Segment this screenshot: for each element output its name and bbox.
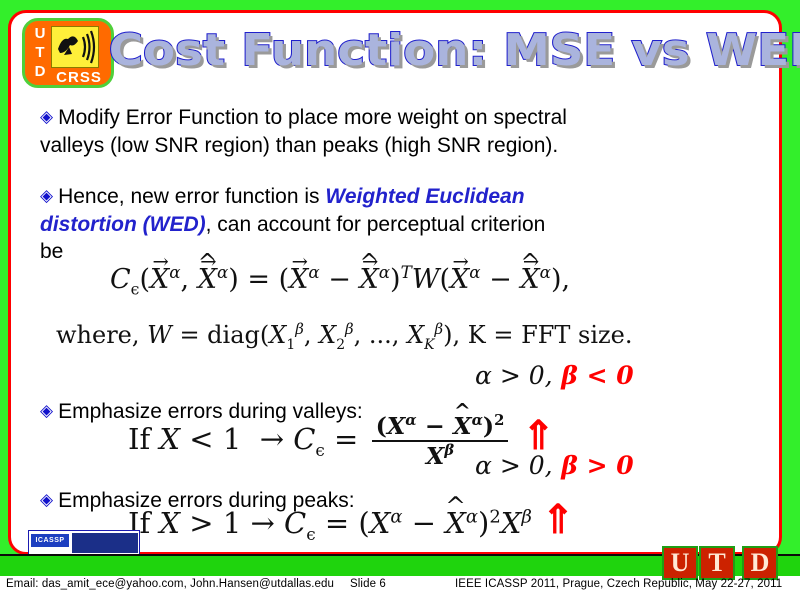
- bullet-1: ◈Modify Error Function to place more wei…: [40, 104, 760, 159]
- equation-peaks: If X > 1 → Cϵ = (Xα − Xα)2Xβ ⇑: [128, 500, 575, 544]
- slide-canvas: U T D CRSS Cost Function: MSE vs WED ◈Mo…: [0, 0, 800, 598]
- utd-letter-d: D: [742, 546, 778, 580]
- up-arrow-icon-peaks: ⇑: [541, 497, 575, 543]
- condition-2-beta: β > 0: [553, 451, 634, 480]
- equation-cost-function: Cϵ(Xα, Xα) = (Xα − Xα)TW(Xα − Xα),: [110, 262, 570, 298]
- utd-letter-u: U: [662, 546, 698, 580]
- diamond-bullet-icon: ◈: [40, 486, 53, 513]
- page-title: Cost Function: MSE vs WED: [109, 16, 787, 88]
- utd-letter-t: T: [699, 546, 735, 580]
- diamond-bullet-icon: ◈: [40, 103, 53, 130]
- diamond-bullet-icon: ◈: [40, 397, 53, 424]
- bullet-2-line-3: be: [40, 238, 760, 265]
- bullet-2-line-2: distortion (WED), can account for percep…: [40, 211, 760, 238]
- condition-alpha-beta-positive: α > 0, β > 0: [475, 451, 634, 480]
- icassp-skyline-icon: [72, 533, 138, 553]
- crss-utd-logo: U T D CRSS: [22, 18, 114, 88]
- bullet-2-emphasis-1: Weighted Euclidean: [325, 185, 524, 208]
- crss-letter-t: T: [30, 43, 50, 62]
- icassp-wordmark: ICASSP: [31, 534, 69, 547]
- bullet-2-lead: Hence, new error function is: [58, 185, 325, 208]
- footer-conference: IEEE ICASSP 2011, Prague, Czech Republic…: [455, 578, 782, 590]
- crss-emblem-icon: [51, 26, 99, 68]
- crss-label: CRSS: [45, 68, 113, 88]
- condition-2-alpha: α > 0,: [475, 451, 553, 480]
- bullet-2-tail: , can account for perceptual criterion: [206, 213, 546, 236]
- condition-1-beta: β < 0: [553, 361, 634, 390]
- diamond-bullet-icon: ◈: [40, 182, 53, 209]
- crss-signal-icon: [52, 27, 98, 67]
- footer-email: Email: das_amit_ece@yahoo.com, John.Hans…: [6, 578, 334, 590]
- bullet-2-emphasis-2: distortion (WED): [40, 213, 206, 236]
- crss-letter-u: U: [30, 24, 50, 43]
- condition-1-alpha: α > 0,: [475, 361, 553, 390]
- bullet-1-line-2: valleys (low SNR region) than peaks (hig…: [40, 132, 760, 159]
- equation-weight-matrix: where, W = diag(X1β, X2β, ..., XKβ), K =…: [56, 320, 632, 353]
- bullet-2: ◈Hence, new error function is Weighted E…: [40, 183, 760, 265]
- bullet-1-line-1: Modify Error Function to place more weig…: [58, 106, 567, 129]
- footer-slide-number: Slide 6: [350, 578, 386, 590]
- condition-alpha-beta-negative: α > 0, β < 0: [475, 361, 634, 390]
